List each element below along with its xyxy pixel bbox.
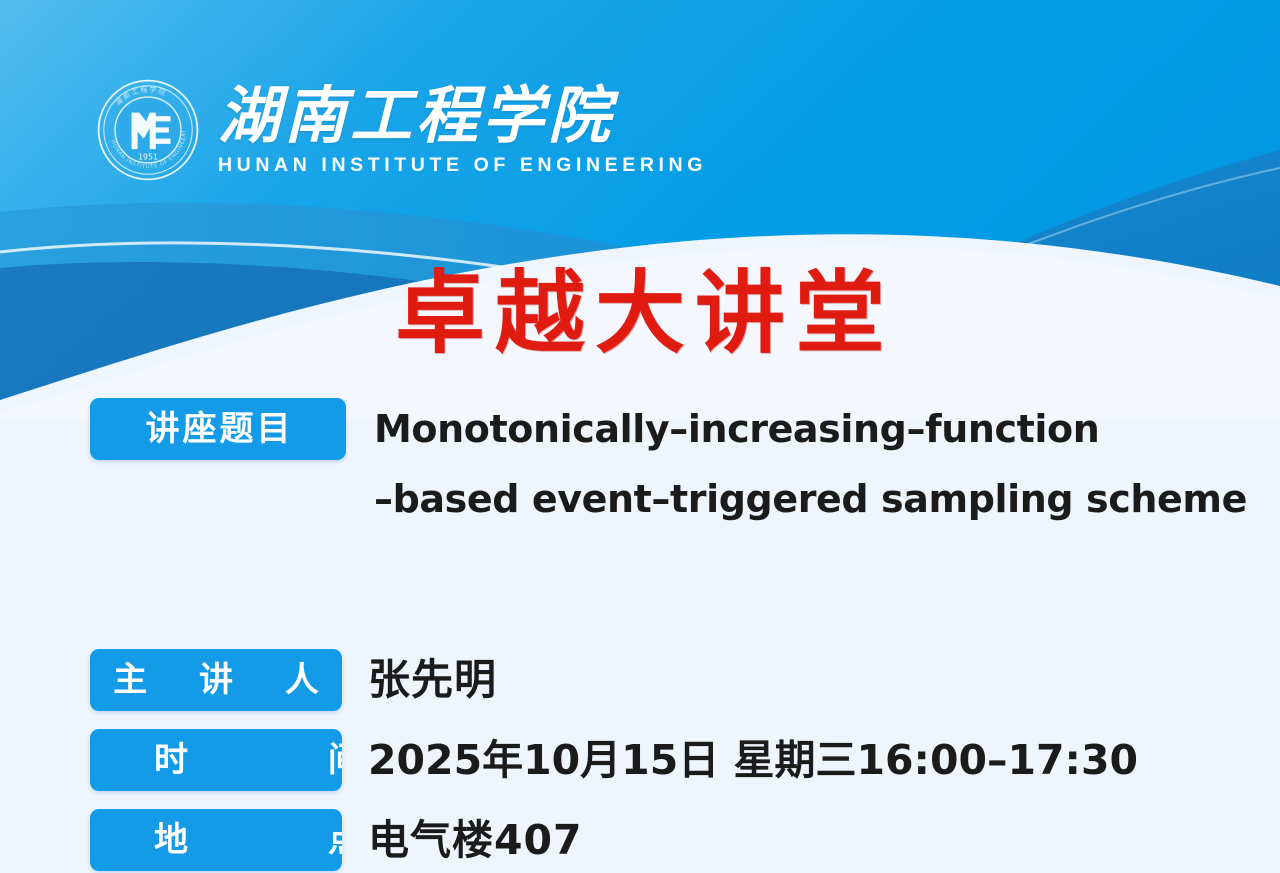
lecture-title-line-1: Monotonically–increasing–function xyxy=(374,394,1250,464)
value-time: 2025年10月15日 星期三16:00–17:30 xyxy=(368,729,1250,791)
value-location: 电气楼407 xyxy=(368,809,1250,871)
label-lecture-title: 讲座题目 xyxy=(90,398,346,460)
label-speaker: 主 讲 人 xyxy=(90,649,342,711)
label-time: 时 间 xyxy=(90,729,342,791)
institution-name-en: HUNAN INSTITUTE OF ENGINEERING xyxy=(218,154,707,177)
institution-name-block: 湖南工程学院 HUNAN INSTITUTE OF ENGINEERING xyxy=(218,83,707,177)
label-location: 地 点 xyxy=(90,809,342,871)
value-lecture-title: Monotonically–increasing–function –based… xyxy=(374,394,1250,534)
info-row-time: 时 间 2025年10月15日 星期三16:00–17:30 xyxy=(90,729,1250,791)
institution-name-cn: 湖南工程学院 xyxy=(218,85,707,147)
info-row-lecture-title: 讲座题目 Monotonically–increasing–function –… xyxy=(90,398,1250,534)
lecture-title-line-2: –based event–triggered sampling scheme xyxy=(374,464,1250,534)
institution-logo-lockup: 1951 湖南工程学院 HUNAN INSTITUTE OF ENGINEERI… xyxy=(96,78,707,182)
info-row-location: 地 点 电气楼407 xyxy=(90,809,1250,871)
poster-main-title: 卓越大讲堂 xyxy=(0,268,1280,358)
lecture-poster: 1951 湖南工程学院 HUNAN INSTITUTE OF ENGINEERI… xyxy=(0,0,1280,873)
info-row-speaker: 主 讲 人 张先明 xyxy=(90,649,1250,711)
emblem-year-text: 1951 xyxy=(138,152,158,161)
value-speaker: 张先明 xyxy=(368,649,1250,711)
poster-info-list: 讲座题目 Monotonically–increasing–function –… xyxy=(90,398,1250,871)
university-emblem-icon: 1951 湖南工程学院 HUNAN INSTITUTE OF ENGINEERI… xyxy=(96,78,200,182)
